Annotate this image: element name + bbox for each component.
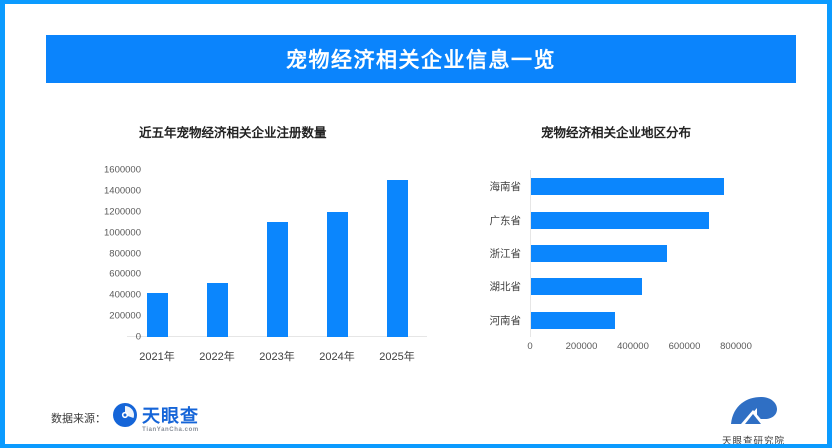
bar-chart-bar (531, 278, 642, 295)
bar-chart-category-label: 河南省 (490, 313, 522, 328)
bar-chart-row: 湖北省 (531, 270, 737, 303)
column-bar-wrapper (367, 170, 427, 337)
tianyancha-logo: 天眼查 TianYanCha.com (112, 402, 199, 433)
column-chart-y-tick: 200000 (109, 311, 141, 322)
footer-source: 数据来源： 天眼查 TianYanCha.com (51, 402, 199, 433)
infographic-page: 宠物经济相关企业信息一览 近五年宠物经济相关企业注册数量 2021年2022年2… (0, 0, 832, 448)
bar-chart-category-label: 湖北省 (490, 279, 522, 294)
column-chart-x-label: 2023年 (247, 337, 307, 364)
chart-panel-registrations: 近五年宠物经济相关企业注册数量 2021年2022年2023年2024年2025… (65, 108, 445, 378)
column-chart-x-label: 2025年 (367, 337, 427, 364)
bar-chart-x-tick: 400000 (617, 341, 649, 352)
column-chart-plot-area: 2021年2022年2023年2024年2025年 (127, 170, 427, 337)
chart-title-registrations: 近五年宠物经济相关企业注册数量 (139, 122, 327, 141)
column-chart-y-tick: 400000 (109, 290, 141, 301)
column-bar-wrapper (187, 170, 247, 337)
bar-chart-plot-area: 海南省广东省浙江省湖北省河南省 020000040000060000080000… (530, 170, 737, 337)
tianyancha-wordmark: 天眼查 TianYanCha.com (142, 407, 199, 433)
bar-chart-row: 浙江省 (531, 237, 737, 270)
column-chart-y-tick: 600000 (109, 269, 141, 280)
institute-arch-icon (727, 396, 779, 431)
bar-chart-x-tick: 800000 (720, 341, 752, 352)
bar-chart-row: 河南省 (531, 304, 737, 337)
bar-chart-bar (531, 178, 724, 195)
bar-chart-bars: 海南省广东省浙江省湖北省河南省 (531, 170, 737, 337)
column-chart-x-label: 2024年 (307, 337, 367, 364)
column-bar (207, 283, 228, 337)
bar-chart-row: 海南省 (531, 170, 737, 203)
bar-chart-x-tick: 600000 (669, 341, 701, 352)
bar-chart-category-label: 浙江省 (490, 246, 522, 261)
column-chart-y-tick: 800000 (109, 248, 141, 259)
bar-chart-row: 广东省 (531, 203, 737, 236)
footer-institute: 天眼查研究院 (722, 396, 785, 447)
column-chart-y-tick: 1200000 (104, 206, 141, 217)
chart-panel-regions: 宠物经济相关企业地区分布 海南省广东省浙江省湖北省河南省 02000004000… (457, 108, 797, 378)
brand-domain: TianYanCha.com (142, 427, 199, 433)
column-chart-bars (127, 170, 427, 337)
column-chart-y-tick: 1600000 (104, 165, 141, 176)
source-label: 数据来源： (51, 410, 106, 426)
column-bar-wrapper (247, 170, 307, 337)
institute-name: 天眼查研究院 (722, 433, 785, 447)
column-chart-y-tick: 0 (136, 332, 141, 343)
column-bar (327, 212, 348, 337)
bar-chart-category-label: 广东省 (490, 213, 522, 228)
bar-chart-x-tick: 0 (527, 341, 532, 352)
bar-chart-bar (531, 245, 667, 262)
page-title: 宠物经济相关企业信息一览 (286, 44, 556, 74)
column-chart-x-axis-labels: 2021年2022年2023年2024年2025年 (127, 337, 427, 364)
bar-chart-category-label: 海南省 (490, 179, 522, 194)
column-bar (147, 293, 168, 337)
column-chart-x-label: 2022年 (187, 337, 247, 364)
column-chart-y-tick: 1400000 (104, 185, 141, 196)
bar-chart-bar (531, 212, 709, 229)
column-bar (267, 222, 288, 337)
bar-chart-bar (531, 312, 615, 329)
tianyancha-mark-icon (112, 402, 138, 433)
brand-name: 天眼查 (142, 407, 199, 425)
page-inner: 宠物经济相关企业信息一览 近五年宠物经济相关企业注册数量 2021年2022年2… (5, 4, 827, 444)
column-bar-wrapper (307, 170, 367, 337)
bar-chart-x-tick: 200000 (566, 341, 598, 352)
chart-title-regions: 宠物经济相关企业地区分布 (541, 122, 691, 141)
column-bar (387, 180, 408, 337)
page-title-banner: 宠物经济相关企业信息一览 (46, 35, 796, 83)
column-chart-y-tick: 1000000 (104, 227, 141, 238)
